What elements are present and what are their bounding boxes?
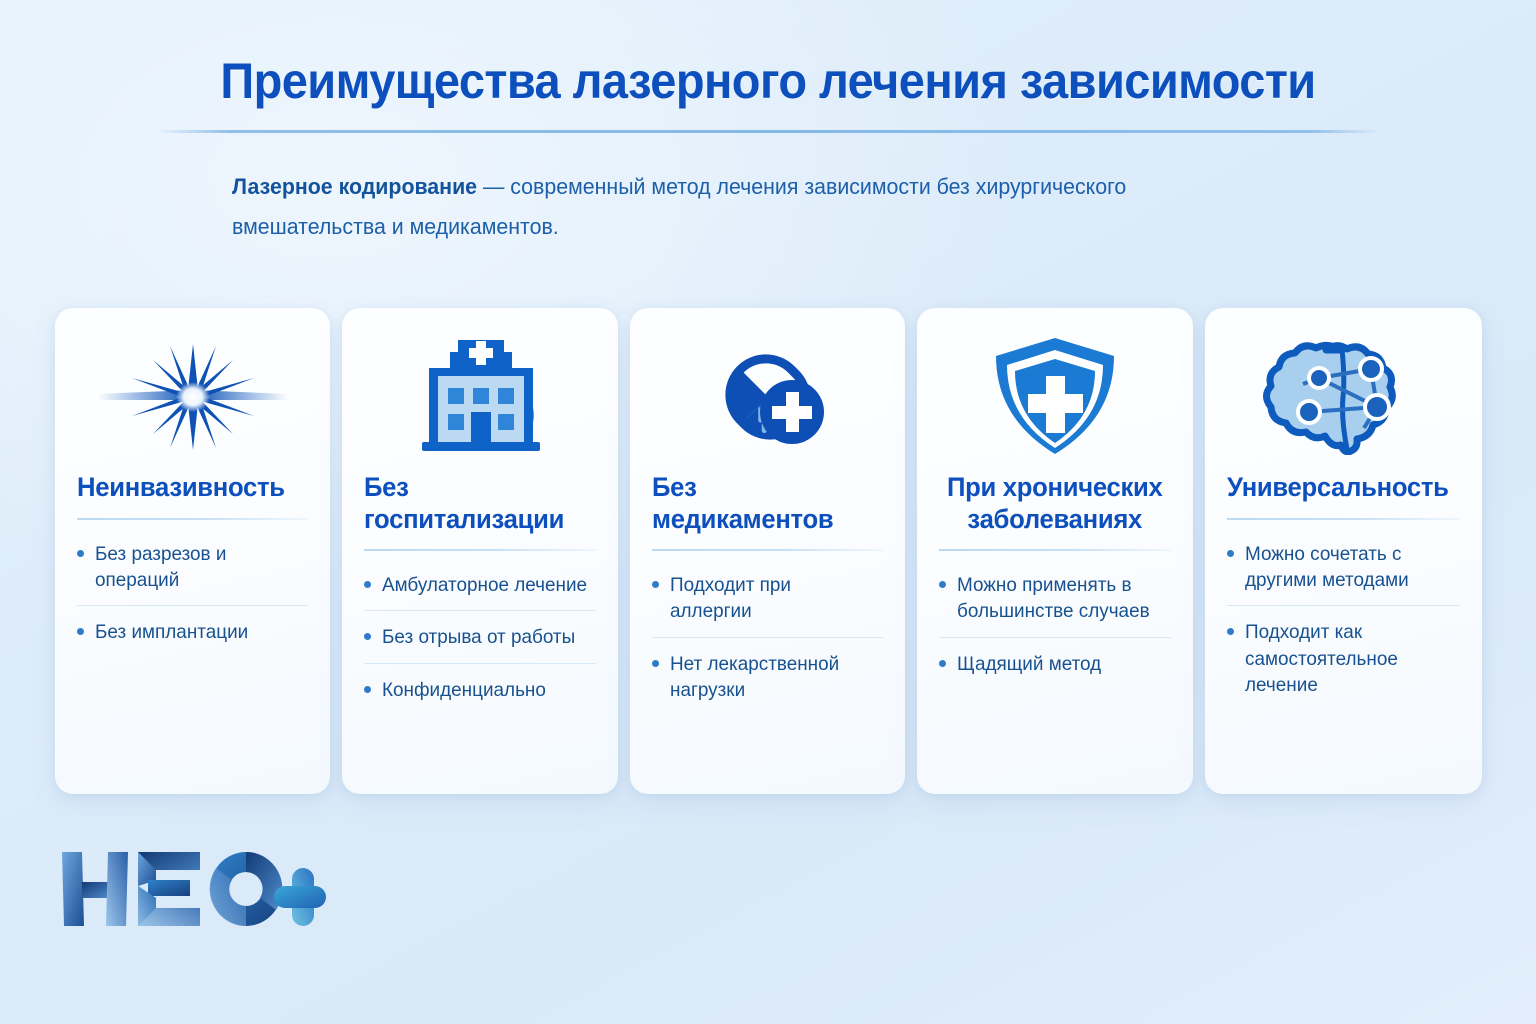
list-item: Амбулаторное лечение [364,559,595,610]
bullet-text: Конфиденциально [382,677,546,703]
bullet-text: Без имплантации [95,619,248,645]
brain-network-icon [1227,338,1460,456]
benefit-card-chronic-diseases[interactable]: При хронических заболеваниях Можно приме… [917,308,1192,794]
list-item: Можно применять в большинстве случаев [939,559,1170,637]
list-item: Конфиденциально [364,663,595,715]
bullet-dot-icon [364,633,371,640]
brand-logo[interactable]: НЕО+ [60,846,326,932]
card-bullet-list: Можно применять в большинстве случаев Ща… [939,559,1170,689]
list-item: Можно сочетать с другими методами [1227,528,1460,606]
shield-cross-icon [939,338,1170,456]
bullet-dot-icon [1227,550,1234,557]
bullet-text: Подходит как самостоятельное лечение [1245,619,1454,698]
card-title: Без медикаментов [652,472,872,535]
card-title-divider [364,549,595,551]
list-item: Без имплантации [77,605,308,657]
page-header: Преимущества лазерного лечения зависимос… [0,0,1536,247]
card-bullet-list: Можно сочетать с другими методами Подход… [1227,528,1460,711]
card-title-divider [77,518,308,520]
title-divider [156,130,1381,133]
list-item: Подходит при аллергии [652,559,883,637]
laser-burst-icon [77,338,308,456]
card-title-divider [652,549,883,551]
bullet-dot-icon [364,581,371,588]
bullet-text: Можно сочетать с другими методами [1245,541,1454,594]
bullet-text: Без отрыва от работы [382,624,575,650]
pills-capsule-icon [652,338,883,456]
benefit-card-universality[interactable]: Универсальность Можно сочетать с другими… [1205,308,1482,794]
benefit-card-row: Неинвазивность Без разрезов и операций Б… [55,308,1482,794]
list-item: Без отрыва от работы [364,610,595,662]
page-subtitle: Лазерное кодирование — современный метод… [232,167,1134,247]
benefit-card-noninvasive[interactable]: Неинвазивность Без разрезов и операций Б… [55,308,330,794]
card-title: Неинвазивность [77,472,297,504]
list-item: Подходит как самостоятельное лечение [1227,605,1460,710]
card-bullet-list: Подходит при аллергии Нет лекарственной … [652,559,883,715]
card-bullet-list: Амбулаторное лечение Без отрыва от работ… [364,559,595,715]
card-title-divider [939,549,1170,551]
card-bullet-list: Без разрезов и операций Без имплантации [77,528,308,658]
bullet-dot-icon [652,581,659,588]
benefit-card-no-medication[interactable]: Без медикаментов Подходит при аллергии Н… [630,308,905,794]
list-item: Нет лекарственной нагрузки [652,637,883,716]
bullet-text: Нет лекарственной нагрузки [670,651,877,704]
card-title: При хронических заболеваниях [945,472,1165,535]
bullet-text: Амбулаторное лечение [382,572,587,598]
card-title-divider [1227,518,1460,520]
bullet-text: Щадящий метод [957,651,1101,677]
bullet-dot-icon [1227,628,1234,635]
list-item: Без разрезов и операций [77,528,308,606]
bullet-text: Можно применять в большинстве случаев [957,572,1164,625]
bullet-dot-icon [77,628,84,635]
page-title: Преимущества лазерного лечения зависимос… [46,52,1490,110]
bullet-dot-icon [939,581,946,588]
bullet-dot-icon [652,660,659,667]
card-title: Без госпитализации [364,472,584,535]
bullet-dot-icon [77,550,84,557]
bullet-text: Подходит при аллергии [670,572,877,625]
benefit-card-no-hospitalization[interactable]: Без госпитализации Амбулаторное лечение … [342,308,617,794]
bullet-text: Без разрезов и операций [95,541,302,594]
list-item: Щадящий метод [939,637,1170,689]
bullet-dot-icon [939,660,946,667]
subtitle-lead: Лазерное кодирование [232,174,477,199]
card-title: Универсальность [1227,472,1449,504]
hospital-building-icon [364,338,595,456]
bullet-dot-icon [364,686,371,693]
